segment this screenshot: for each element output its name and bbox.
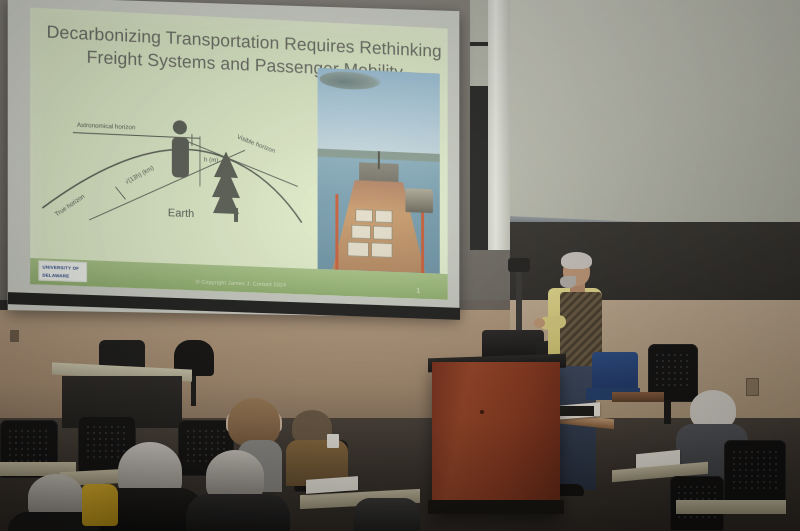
horizon-diagram: Astronomical horizon Visible horizon Tru… (38, 87, 307, 269)
audience-member-front-body (186, 494, 290, 531)
blue-chair (592, 352, 638, 392)
right-wall (470, 0, 800, 246)
projection-screen: Decarbonizing Transportation Requires Re… (8, 0, 460, 318)
yellow-bag (82, 484, 118, 526)
ship-deck-photo (318, 68, 440, 274)
photo-tugboat (406, 188, 433, 213)
wall-outlet-left (10, 330, 19, 342)
photo-deck-rail-left (335, 194, 338, 270)
av-equipment-head (508, 258, 530, 272)
pillar-panel-second (470, 46, 490, 86)
projected-slide: Decarbonizing Transportation Requires Re… (30, 8, 447, 300)
photo-ship-mast (378, 151, 380, 169)
side-desk (612, 392, 664, 402)
av-equipment-stand (516, 264, 522, 338)
wall-outlet-right (746, 378, 759, 396)
slide-number: 1 (416, 288, 420, 295)
photo-deck-hatch (371, 242, 393, 258)
mesh-chair-stem (664, 400, 671, 424)
audience-member-brown-jacket-head (292, 410, 332, 444)
photo-deck-hatch (355, 209, 373, 223)
label-height: h (m) (204, 157, 218, 165)
university-logo: UNIVERSITY OF DELAWARE (38, 260, 87, 282)
audience-member-ponytail-hair (228, 398, 280, 446)
photo-deck-hatch (375, 210, 393, 224)
photo-deck-hatch (373, 225, 393, 240)
horizon-diagram-svg (38, 87, 307, 269)
desk-row-right-lower (676, 500, 786, 514)
presenter-hair (561, 252, 592, 269)
label-earth: Earth (168, 207, 194, 220)
mesh-chair (724, 440, 786, 504)
podium-base (428, 500, 564, 514)
university-logo-line1: UNIVERSITY OF (39, 261, 86, 271)
lecture-hall-photo: Decarbonizing Transportation Requires Re… (0, 0, 800, 531)
photo-deck-hatch (347, 241, 369, 257)
coffee-cup (327, 434, 339, 448)
presenter-hand (534, 318, 545, 328)
presenter-beard (560, 276, 576, 288)
audience-member-right-front (354, 498, 420, 531)
pillar-panel-top (470, 0, 490, 42)
podium-cable-panel (560, 406, 594, 416)
podium-lock (480, 410, 484, 414)
podium (432, 362, 560, 512)
slide-copyright: © Copyright James J. Corbett 2024 (30, 273, 447, 295)
photo-deck-hatch (351, 225, 371, 240)
pillar (488, 0, 510, 250)
